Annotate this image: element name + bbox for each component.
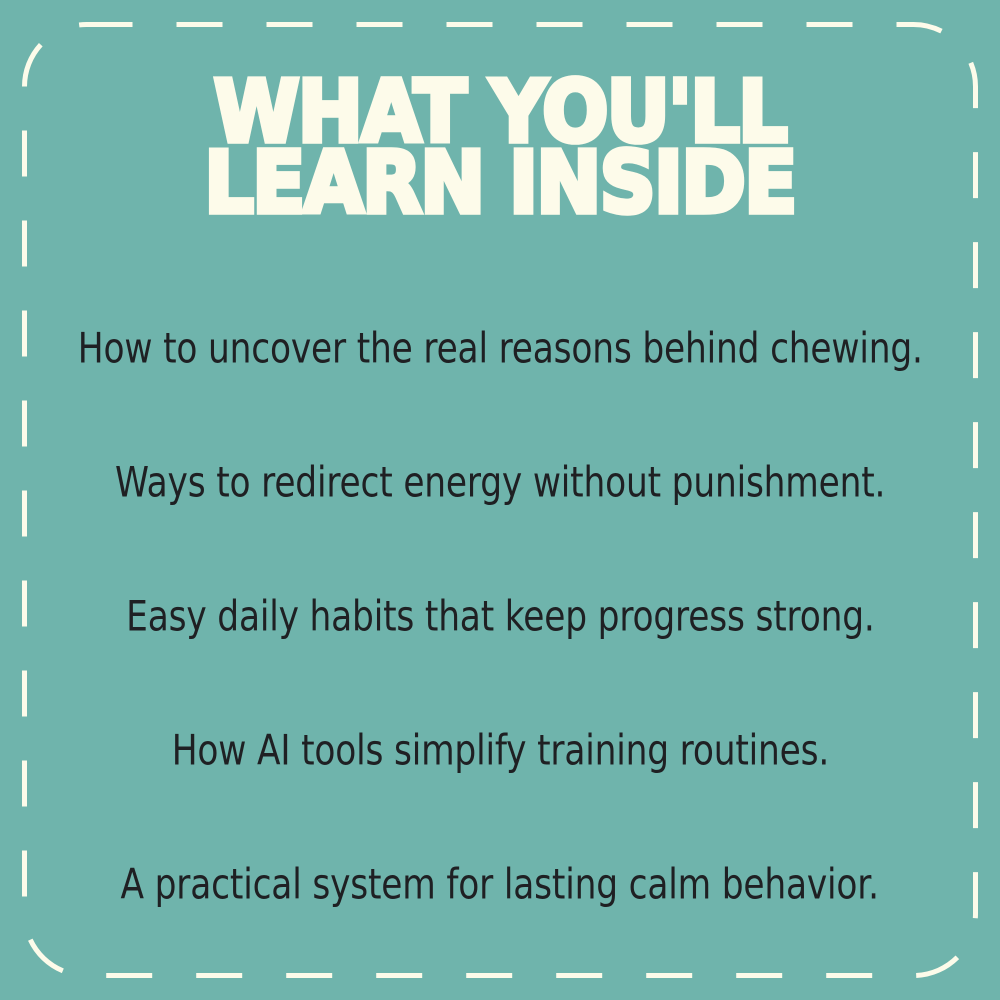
list-item-label: How to uncover the real reasons behind c… <box>78 324 923 372</box>
page-title-line-2: LEARN INSIDE <box>0 147 1000 218</box>
list-item-label: Easy daily habits that keep progress str… <box>126 592 874 640</box>
list-item: Ways to redirect energy without punishme… <box>0 415 1000 549</box>
learning-points-list: How to uncover the real reasons behind c… <box>0 281 1000 951</box>
slide-canvas: WHAT YOU'LL LEARN INSIDE How to uncover … <box>0 0 1000 1000</box>
page-title: WHAT YOU'LL LEARN INSIDE <box>0 76 1000 210</box>
list-item-label: How AI tools simplify training routines. <box>171 726 828 774</box>
list-item-label: Ways to redirect energy without punishme… <box>115 458 885 506</box>
list-item-label: A practical system for lasting calm beha… <box>121 860 879 908</box>
list-item: How to uncover the real reasons behind c… <box>0 281 1000 415</box>
list-item: A practical system for lasting calm beha… <box>0 817 1000 951</box>
list-item: Easy daily habits that keep progress str… <box>0 549 1000 683</box>
list-item: How AI tools simplify training routines. <box>0 683 1000 817</box>
